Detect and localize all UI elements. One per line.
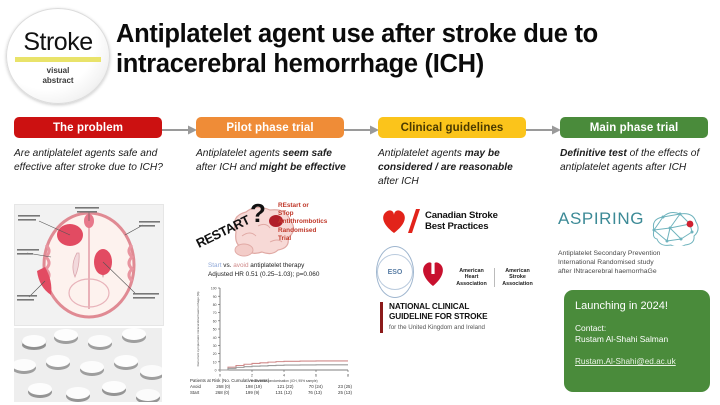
svg-text:8: 8 — [347, 374, 349, 378]
restart-expansion-line: STop — [278, 210, 327, 218]
stat-therapy: antiplatelet therapy — [249, 262, 305, 269]
stroke-visual-abstract-logo: Stroke visual abstract — [6, 8, 110, 104]
svg-text:2: 2 — [251, 374, 253, 378]
column-the-problem: The problem Are antiplatelet agents safe… — [6, 112, 170, 404]
blurb-run: after ICH and — [196, 162, 259, 173]
aspiring-sub-line2: International Randomised study — [558, 258, 716, 267]
blurb-run: Antiplatelet agents — [196, 148, 283, 159]
restart-statistics: Start vs. avoid antiplatelet therapy Adj… — [208, 262, 352, 279]
nice-text: NATIONAL CLINICAL GUIDELINE FOR STROKE f… — [389, 302, 488, 333]
blurb-main-phase-trial: Definitive test of the effects of antipl… — [560, 147, 710, 175]
aha-heart-torch-icon — [420, 257, 446, 287]
risk-row-label: Start — [190, 390, 199, 396]
pill-main-phase-trial: Main phase trial — [560, 117, 708, 138]
stat-hazard-ratio: Adjusted HR 0.51 (0.25–1.03); p=0.060 — [208, 271, 352, 280]
aspiring-wordmark: ASPIRING — [558, 210, 644, 227]
logo-yellow-bar — [15, 57, 101, 62]
stat-start-label: Start — [208, 262, 222, 269]
blurb-clinical-guidelines: Antiplatelet agents may be considered / … — [378, 147, 528, 189]
pill-clinical-guidelines: Clinical guidelines — [378, 117, 526, 138]
american-heart-association-label: American Heart Association — [449, 268, 495, 287]
restart-expansion-line: Antithrombotics — [278, 218, 327, 226]
contact-box: Launching in 2024! Contact: Rustam Al-Sh… — [564, 290, 710, 392]
asa-line3: Association — [495, 281, 540, 287]
stat-vs: vs. — [222, 262, 234, 269]
svg-text:10: 10 — [213, 360, 217, 364]
restart-expansion-line: Randomised — [278, 227, 327, 235]
svg-text:0: 0 — [219, 374, 221, 378]
blurb-run: after ICH — [378, 176, 419, 187]
heart-icon — [380, 207, 420, 235]
restart-expansion-line: Trial — [278, 235, 327, 243]
launch-text: Launching in 2024! — [575, 300, 699, 312]
nice-line1: NATIONAL CLINICAL — [389, 302, 488, 312]
haemorrhage-dot — [687, 221, 694, 228]
nice-subtitle: for the United Kingdom and Ireland — [389, 323, 488, 333]
question-mark-icon: ? — [250, 200, 266, 226]
visual-abstract-page: Stroke visual abstract Antiplatelet agen… — [0, 0, 720, 404]
blurb-pilot-phase-trial: Antiplatelet agents seem safe after ICH … — [196, 147, 346, 175]
restart-expansion: REstart orSTopAntithromboticsRandomisedT… — [278, 202, 327, 243]
risk-row-cell: 131 (12) — [276, 390, 292, 396]
american-stroke-association-label: American Stroke Association — [495, 268, 540, 287]
logo-subtitle: visual abstract — [42, 66, 73, 86]
patients-at-risk-table: Patients at Risk (No. Cumulative Events)… — [190, 378, 352, 396]
risk-row-cell: 268 (0) — [215, 390, 229, 396]
restart-expansion-line: REstart or — [278, 202, 327, 210]
pill-pilot-phase-trial: Pilot phase trial — [196, 117, 344, 138]
risk-table-row: Start268 (0)199 (9)131 (12)76 (13)25 (13… — [190, 390, 352, 396]
column-clinical-guidelines: Clinical guidelines Antiplatelet agents … — [370, 112, 534, 404]
csbp-line1: Canadian Stroke — [425, 210, 498, 221]
svg-text:6: 6 — [315, 374, 317, 378]
eso-seal-inner: ESO — [377, 254, 413, 290]
guideline-logos-row: ESO American Heart Association American — [376, 244, 534, 300]
csbp-line2: Best Practices — [425, 221, 498, 232]
risk-row-cell: 25 (13) — [338, 390, 352, 396]
csbp-text: Canadian Stroke Best Practices — [425, 210, 498, 232]
aspiring-expansion: Antiplatelet Secondary Prevention Intern… — [558, 249, 716, 277]
svg-text:40: 40 — [213, 336, 217, 340]
svg-text:100: 100 — [211, 287, 217, 291]
blurb-the-problem: Are antiplatelet agents safe and effecti… — [14, 147, 164, 175]
logo-subtitle-line1: visual — [42, 66, 73, 76]
tablets-photo — [14, 328, 162, 402]
aspiring-sub-line1: Antiplatelet Secondary Prevention — [558, 249, 716, 258]
page-title: Antiplatelet agent use after stroke due … — [116, 20, 716, 79]
stat-comparison-line: Start vs. avoid antiplatelet therapy — [208, 262, 352, 271]
blurb-run: Are antiplatelet agents safe and effecti… — [14, 148, 163, 173]
national-clinical-guideline-logo: NATIONAL CLINICAL GUIDELINE FOR STROKE f… — [380, 302, 532, 333]
svg-text:60: 60 — [213, 319, 217, 323]
aha-asa-logo: American Heart Association American Stro… — [420, 257, 540, 287]
column-main-phase-trial: Main phase trial Definitive test of the … — [552, 112, 716, 404]
blurb-run: Antiplatelet agents — [378, 148, 465, 159]
risk-row-cell: 199 (9) — [245, 390, 259, 396]
contact-name: Rustam Al-Shahi Salman — [575, 334, 699, 345]
risk-row-cell: 76 (13) — [308, 390, 322, 396]
svg-text:20: 20 — [213, 352, 217, 356]
svg-text:4: 4 — [283, 374, 285, 378]
columns-container: The problem Are antiplatelet agents safe… — [0, 112, 720, 404]
aha-line3: Association — [449, 281, 494, 287]
contact-email-link[interactable]: Rustam.Al-Shahi@ed.ac.uk — [575, 357, 676, 366]
svg-text:90: 90 — [213, 295, 217, 299]
pill-the-problem: The problem — [14, 117, 162, 138]
logo-wordmark: Stroke — [23, 30, 92, 55]
aspiring-trial-logo: ASPIRING — [558, 210, 716, 277]
svg-text:Recurrent symptomatic intracer: Recurrent symptomatic intracerebral haem… — [196, 292, 200, 367]
canadian-stroke-best-practices-logo: Canadian Stroke Best Practices — [380, 204, 530, 238]
svg-text:0: 0 — [215, 369, 217, 373]
logo-subtitle-line2: abstract — [42, 76, 73, 86]
nice-line2: GUIDELINE FOR STROKE — [389, 312, 488, 322]
brain-network-icon — [646, 210, 700, 246]
contact-label: Contact: — [575, 323, 699, 334]
aspiring-sub-line3: after INtracerebral haemorrhaGe — [558, 267, 716, 276]
svg-text:70: 70 — [213, 311, 217, 315]
restart-trial-logo: RESTART ? REstart orSTopAntithromboticsR… — [192, 198, 352, 260]
header: Stroke visual abstract Antiplatelet agen… — [0, 0, 720, 108]
aspiring-logo-top: ASPIRING — [558, 210, 716, 246]
brain-ich-diagram — [14, 204, 164, 326]
column-pilot-phase-trial: Pilot phase trial Antiplatelet agents se… — [188, 112, 352, 404]
nice-red-bar — [380, 302, 383, 333]
svg-text:80: 80 — [213, 303, 217, 307]
svg-text:50: 50 — [213, 328, 217, 332]
blurb-run: seem safe — [283, 148, 332, 159]
eso-seal-logo: ESO — [376, 246, 414, 298]
stat-avoid-label: avoid — [233, 262, 248, 269]
svg-text:30: 30 — [213, 344, 217, 348]
blurb-run: might be effective — [259, 162, 345, 173]
blurb-run: Definitive test — [560, 148, 627, 159]
